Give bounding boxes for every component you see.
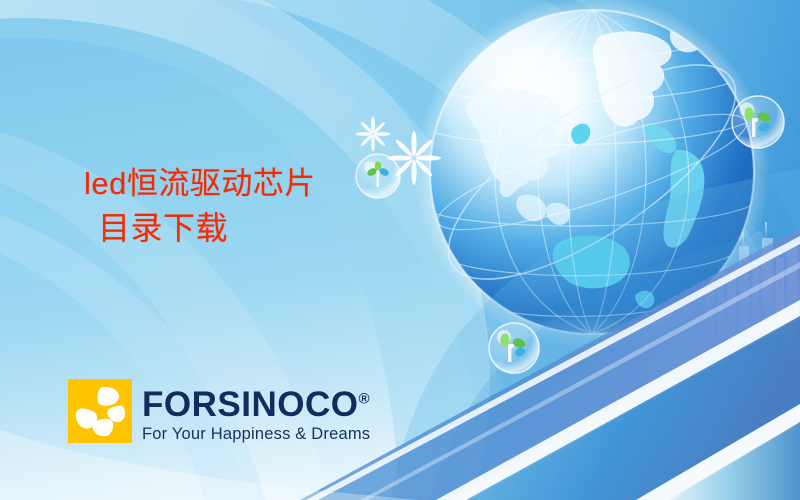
bubble-windmill-right (732, 96, 784, 148)
logo-wordmark: FORSINOCO® (142, 387, 370, 422)
logo-wordmark-text: FORSINOCO (142, 385, 358, 424)
bubble-windmill-center (489, 323, 539, 373)
logo-text-block: FORSINOCO® For Your Happiness & Dreams (142, 379, 370, 444)
headline-block: led恒流驱动芯片 目录下载 (84, 162, 316, 251)
logo-tagline: For Your Happiness & Dreams (142, 425, 370, 444)
forsinoco-petal-mark-icon (68, 379, 132, 443)
promo-banner: led恒流驱动芯片 目录下载 FORSINOCO® (0, 0, 800, 500)
registered-trademark-icon: ® (358, 390, 369, 407)
bubble-windmill-left (356, 154, 400, 198)
brand-logo: FORSINOCO® For Your Happiness & Dreams (68, 379, 370, 444)
headline-line-1: led恒流驱动芯片 (84, 162, 316, 206)
headline-line-2: 目录下载 (84, 206, 316, 251)
